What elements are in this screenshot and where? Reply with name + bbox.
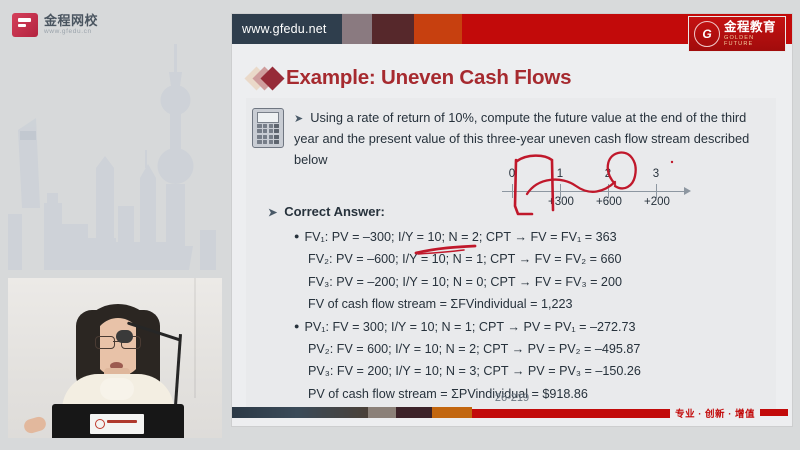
answer-heading: ➤Correct Answer: bbox=[268, 204, 385, 219]
player-controls-strip[interactable] bbox=[232, 407, 368, 418]
footer-block-2 bbox=[396, 407, 432, 418]
skyline-watermark-icon bbox=[0, 38, 230, 273]
slide-body: ➤Using a rate of return of 10%, compute … bbox=[246, 98, 776, 410]
fv-line-2: FV₂: PV = –600; I/Y = 10; N = 1; CPT → F… bbox=[294, 248, 764, 270]
slide: www.gfedu.net G 金程教育 GOLDEN FUTURE Examp… bbox=[232, 14, 792, 426]
player-brand-name: 金程网校 bbox=[44, 14, 98, 27]
video-pane: 金程网校 www.gfedu.cn bbox=[0, 0, 230, 450]
wall-edge bbox=[194, 278, 196, 398]
footer-block-3 bbox=[432, 407, 472, 418]
golden-future-logo: G 金程教育 GOLDEN FUTURE bbox=[688, 16, 786, 52]
player-brand-url: www.gfedu.cn bbox=[44, 29, 98, 36]
collar bbox=[100, 378, 134, 400]
gfedu-logo-icon bbox=[12, 13, 38, 37]
page-title: Example: Uneven Cash Flows bbox=[286, 66, 571, 90]
timeline-period-1: 1 bbox=[557, 168, 563, 180]
microphone-icon bbox=[116, 330, 133, 343]
answer-lines: FV₁: PV = –300; I/Y = 10; N = 2; CPT → F… bbox=[294, 226, 764, 405]
fv-line-1: FV₁: PV = –300; I/Y = 10; N = 2; CPT → F… bbox=[294, 226, 764, 248]
pv-line-2: PV₂: FV = 600; I/Y = 10; N = 2; CPT → PV… bbox=[294, 338, 764, 360]
fv-total-line: FV of cash flow stream = ΣFVindividual =… bbox=[294, 293, 764, 315]
arrow-bullet-icon-2: ➤ bbox=[268, 207, 277, 219]
header-color-block-1 bbox=[342, 14, 372, 44]
logo-name-en: GOLDEN FUTURE bbox=[724, 36, 785, 47]
screen-root: 金程网校 www.gfedu.cn bbox=[0, 0, 800, 450]
prompt-text: ➤Using a rate of return of 10%, compute … bbox=[294, 108, 762, 170]
header-color-block-3 bbox=[414, 14, 462, 44]
footer-red-tail bbox=[760, 409, 788, 416]
fv-line-3: FV₃: PV = –200; I/Y = 10; N = 0; CPT → F… bbox=[294, 271, 764, 293]
timeline-cashflow-2: +600 bbox=[596, 196, 622, 208]
seal-icon: G bbox=[694, 21, 720, 47]
prompt-body: Using a rate of return of 10%, compute t… bbox=[294, 110, 749, 167]
calculator-icon bbox=[252, 108, 284, 148]
answer-heading-label: Correct Answer: bbox=[284, 204, 385, 219]
pv-line-1: PV₁: FV = 300; I/Y = 10; N = 1; CPT → PV… bbox=[294, 316, 764, 338]
arrow-bullet-icon: ➤ bbox=[294, 113, 303, 125]
logo-name-cn: 金程教育 bbox=[724, 21, 785, 34]
page-number: 26-219 bbox=[232, 392, 792, 404]
footer-block-1 bbox=[368, 407, 396, 418]
slide-header-url: www.gfedu.net bbox=[232, 14, 342, 44]
cash-flow-timeline: 0 1 2 3 +300 +600 +200 bbox=[498, 166, 698, 212]
timeline-axis bbox=[502, 191, 686, 192]
timeline-arrowhead-icon bbox=[684, 187, 691, 195]
player-brand: 金程网校 www.gfedu.cn bbox=[12, 10, 98, 40]
timeline-period-2: 2 bbox=[605, 168, 611, 180]
timeline-period-0: 0 bbox=[509, 168, 515, 180]
diamond-bullet-icon bbox=[246, 66, 286, 90]
pv-line-3: PV₃: FV = 200; I/Y = 10; N = 3; CPT → PV… bbox=[294, 360, 764, 382]
timeline-cashflow-1: +300 bbox=[548, 196, 574, 208]
footer-slogan: 专业 · 创新 · 增值 bbox=[670, 406, 760, 420]
header-color-block-2 bbox=[372, 14, 414, 44]
laptop-sticker bbox=[90, 414, 144, 434]
footer-red-bar bbox=[472, 409, 670, 418]
timeline-cashflow-3: +200 bbox=[644, 196, 670, 208]
instructor-video[interactable] bbox=[8, 278, 222, 438]
slide-title-row: Example: Uneven Cash Flows bbox=[246, 66, 571, 90]
timeline-period-3: 3 bbox=[653, 168, 659, 180]
slide-footer: 专业 · 创新 · 增值 bbox=[232, 407, 792, 418]
